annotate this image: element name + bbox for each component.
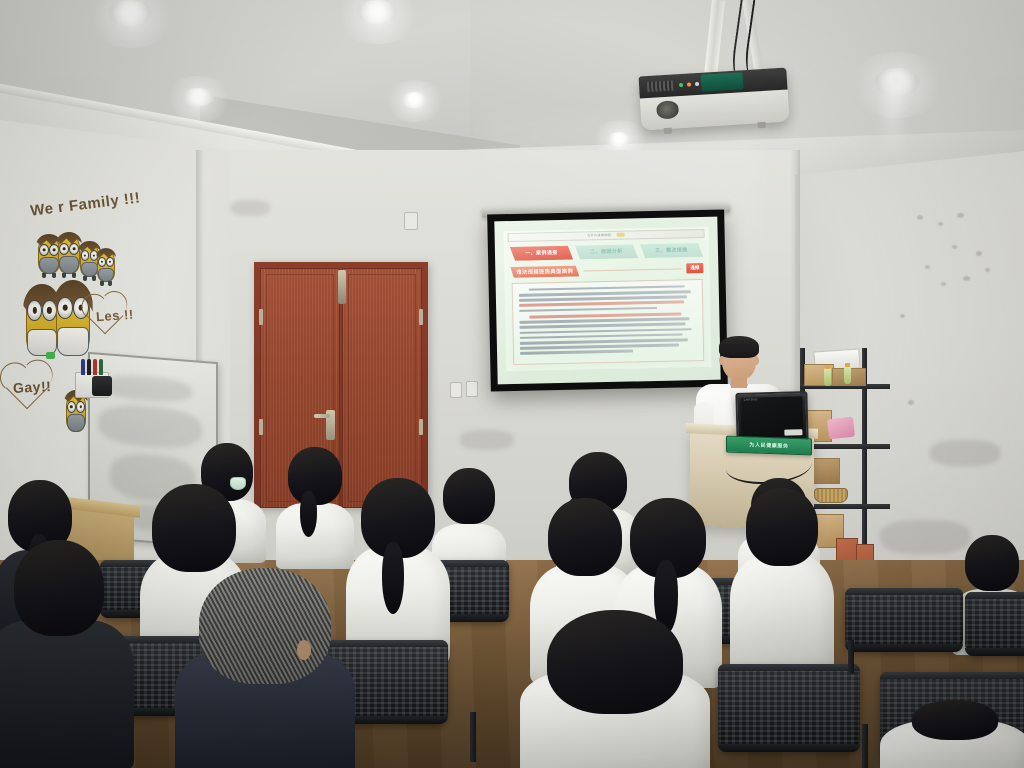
wall-socket[interactable] [466,381,478,397]
slide-paragraph [519,312,697,355]
wall-mark [938,222,943,226]
slide-tab-1: 一、案例通报 [510,245,573,260]
wall-mark [957,213,964,218]
pink-bag [827,417,855,440]
door-bolt[interactable] [338,270,346,304]
slide-body-text [512,279,705,365]
door-leaf-right[interactable] [342,268,422,508]
ceiling-projector[interactable] [638,68,789,131]
wall-mark [985,268,990,272]
attendee-front-grey-man [175,568,355,768]
wall-socket[interactable] [450,382,462,398]
attendee-front-right [880,700,1024,768]
attendee-row2-ponytail [346,478,450,664]
door-hinge [419,419,423,435]
slide-title-row: 违法违规医院典型案例 通报 [510,262,703,279]
wall-mark [976,251,982,256]
attendee-head [548,498,622,576]
minion-figure [66,392,86,432]
minion-figure-large [26,288,58,356]
marker-pen[interactable] [99,359,103,375]
chair[interactable] [845,588,963,652]
projector-lens [656,100,679,119]
whiteboard-clip[interactable] [46,352,55,359]
minion-figure [58,234,80,274]
plastic-bottle [824,368,831,386]
attendee-front-center [520,610,710,768]
door-hinge [259,419,263,435]
attendee-ear [297,640,311,660]
wall-mark [925,265,930,269]
attendee-head [912,700,998,740]
projector-circuit-board [700,72,743,92]
downlight-2 [182,88,214,106]
wall-art-les-text: Les !! [96,307,135,325]
plastic-bottle [844,366,851,384]
presenter-hair [719,336,759,358]
wall-mark [952,245,957,249]
wall-mark [941,282,946,286]
chair[interactable] [718,664,860,752]
attendee-ponytail [300,491,317,537]
slide-tab-1-label: 一、案例通报 [525,249,558,257]
projector-vent [647,80,674,92]
attendee-head [443,468,495,524]
minion-figure [97,250,115,282]
projection-screen[interactable]: 幻灯片放映视图 一、案例通报 二、原因分析 三、整改措施 违法违规医院典型案例 [487,210,728,392]
attendee-head [14,540,104,636]
bottle-cap [825,365,830,369]
attendee-head [547,610,683,714]
room-photo: We r Family !!! [0,0,1024,768]
minion-figure-large [56,284,90,356]
projected-slide: 幻灯片放映视图 一、案例通报 二、原因分析 三、整改措施 违法违规医院典型案例 [503,227,711,371]
wall-scuff [230,200,270,216]
slide-paragraph [519,285,697,312]
presenter-ear [754,356,759,365]
downlight-1 [108,0,152,26]
door-hinge [259,309,263,325]
attendee-head [965,535,1019,591]
attendee-back-right [276,447,354,569]
chair-leg [862,724,868,768]
slide-nav-tabs: 一、案例通报 二、原因分析 三、整改措施 [510,243,703,261]
wall-scuff [460,430,514,450]
minion-figure [38,236,60,274]
projector-foot [758,122,766,128]
downlight-4 [400,92,428,108]
slide-topbar-indicator [617,233,625,237]
downlight-6 [874,68,920,96]
slide-title-rule [583,268,682,271]
slide-topbar-label: 幻灯片放映视图 [587,233,611,237]
presenter-ear [719,356,724,365]
projector-foot [664,128,672,134]
attendee-head [746,488,818,566]
wall-mark [917,215,923,220]
slide-tab-3-label: 三、整改措施 [655,247,688,255]
chair-leg [848,640,854,674]
bottle-cap [845,363,850,367]
wall-mark [963,276,970,281]
slide-tab-2-label: 二、原因分析 [590,248,623,256]
slide-section-title: 违法违规医院典型案例 [510,265,579,277]
wall-mark [908,400,914,405]
slide-tab-3: 三、整改措施 [640,243,703,258]
marker-pen[interactable] [87,359,91,375]
downlight-3 [356,0,398,24]
wall-mark [900,314,905,318]
slide-tab-2: 二、原因分析 [575,244,638,259]
chair-leg [470,712,476,762]
projection-surface: 幻灯片放映视图 一、案例通报 二、原因分析 三、整改措施 违法违规医院典型案例 [494,217,720,385]
door-hinge [419,309,423,325]
attendee-row2-far-right [730,488,834,678]
slide-app-topbar: 幻灯片放映视图 [507,229,704,242]
wall-scuff [930,440,1000,466]
laptop[interactable]: Lenovo [735,391,808,443]
wall-art-gay-text: Gay!! [13,378,52,396]
slide-badge: 通报 [686,263,703,273]
whiteboard-eraser[interactable] [92,376,112,396]
laptop-sticker [784,429,802,435]
marker-pen[interactable] [93,359,97,375]
wall-socket[interactable] [404,212,418,230]
chair[interactable] [965,592,1024,656]
attendee-head-grey [199,568,331,684]
marker-pen[interactable] [81,359,85,375]
laptop-brand-label: Lenovo [743,397,757,401]
attendee-head [288,447,342,505]
attendee-front-left-dark [0,540,134,768]
downlight-5 [606,132,632,147]
attendee-ponytail [382,542,404,614]
attendee-head [152,484,236,572]
door-lever[interactable] [314,414,330,418]
